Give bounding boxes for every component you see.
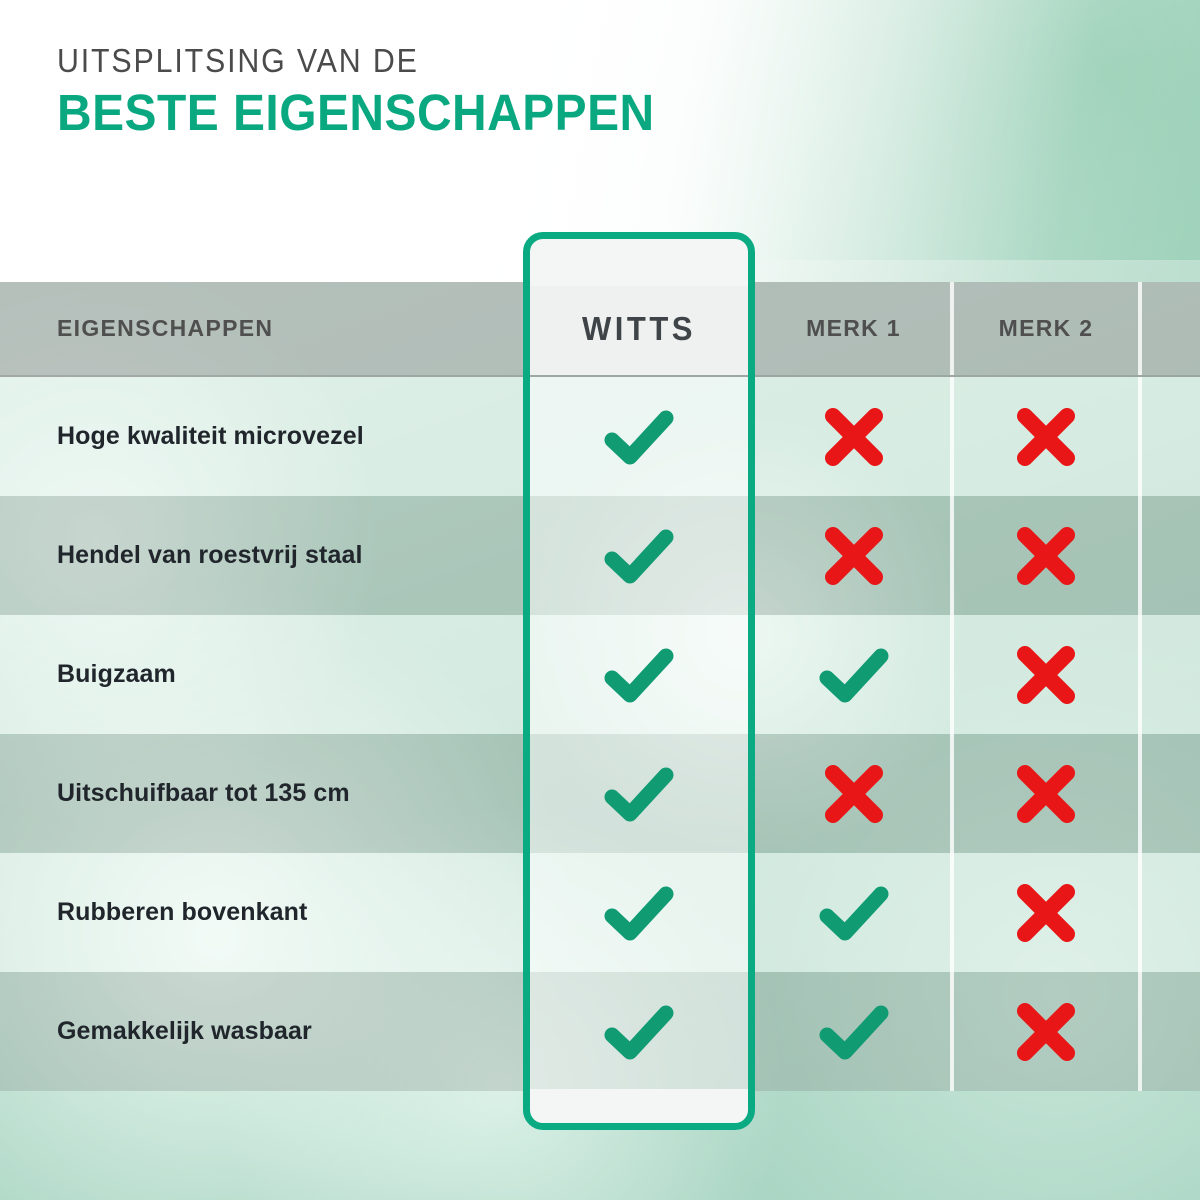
feature-cell: Rubberen bovenkant [0,853,523,972]
table-body: Hoge kwaliteit microvezelHendel van roes… [0,377,1200,1091]
feature-cell: Hoge kwaliteit microvezel [0,377,523,496]
header-cell-overflow [1140,282,1200,375]
header-cell-merk2: MERK 2 [952,282,1140,375]
cross-icon [1009,876,1083,950]
header-cell-witts: WITTS [523,282,755,375]
header-cell-merk1: MERK 1 [755,282,952,375]
overflow-cell [1140,496,1200,615]
cross-icon [1009,400,1083,474]
header-label-eigenschappen: EIGENSCHAPPEN [57,315,273,342]
status-cell-merk2 [952,972,1140,1091]
check-icon [602,519,676,593]
check-icon [817,876,891,950]
status-cell-merk2 [952,615,1140,734]
feature-label: Hoge kwaliteit microvezel [57,422,364,451]
comparison-table: EIGENSCHAPPEN WITTS MERK 1 MERK 2 Hoge k… [0,282,1200,1091]
witts-column-top-cap [527,236,751,286]
status-cell-merk1 [755,496,952,615]
feature-cell: Gemakkelijk wasbaar [0,972,523,1091]
title-main: BESTE EIGENSCHAPPEN [57,85,655,141]
feature-cell: Uitschuifbaar tot 135 cm [0,734,523,853]
status-cell-witts [523,496,755,615]
table-header-row: EIGENSCHAPPEN WITTS MERK 1 MERK 2 [0,282,1200,377]
infographic-canvas: UITSPLITSING VAN DE BESTE EIGENSCHAPPEN … [0,0,1200,1200]
table-row: Hoge kwaliteit microvezel [0,377,1200,496]
overflow-cell [1140,853,1200,972]
check-icon [602,757,676,831]
status-cell-witts [523,615,755,734]
overflow-cell [1140,615,1200,734]
status-cell-merk1 [755,853,952,972]
header-label-witts: WITTS [582,309,696,348]
status-cell-merk2 [952,496,1140,615]
status-cell-merk2 [952,734,1140,853]
page-title: UITSPLITSING VAN DE BESTE EIGENSCHAPPEN [57,44,693,141]
feature-label: Buigzaam [57,660,176,689]
table-row: Buigzaam [0,615,1200,734]
cross-icon [1009,995,1083,1069]
cross-icon [817,400,891,474]
table-row: Uitschuifbaar tot 135 cm [0,734,1200,853]
status-cell-witts [523,853,755,972]
check-icon [602,995,676,1069]
feature-cell: Hendel van roestvrij staal [0,496,523,615]
feature-label: Gemakkelijk wasbaar [57,1017,312,1046]
header-cell-feature: EIGENSCHAPPEN [0,282,523,375]
header-label-merk2: MERK 2 [999,315,1094,342]
feature-label: Hendel van roestvrij staal [57,541,363,570]
cross-icon [1009,638,1083,712]
header-label-merk1: MERK 1 [806,315,901,342]
status-cell-merk2 [952,853,1140,972]
check-icon [602,400,676,474]
feature-label: Uitschuifbaar tot 135 cm [57,779,350,808]
status-cell-merk1 [755,615,952,734]
witts-column-bottom-cap [527,1089,751,1126]
status-cell-witts [523,377,755,496]
cross-icon [817,519,891,593]
check-icon [817,638,891,712]
cross-icon [1009,519,1083,593]
title-kicker: UITSPLITSING VAN DE [57,44,642,79]
overflow-cell [1140,972,1200,1091]
cross-icon [1009,757,1083,831]
check-icon [817,995,891,1069]
status-cell-merk1 [755,734,952,853]
table-row: Gemakkelijk wasbaar [0,972,1200,1091]
check-icon [602,876,676,950]
status-cell-merk2 [952,377,1140,496]
table-row: Rubberen bovenkant [0,853,1200,972]
feature-label: Rubberen bovenkant [57,898,307,927]
cross-icon [817,757,891,831]
overflow-cell [1140,734,1200,853]
table-row: Hendel van roestvrij staal [0,496,1200,615]
status-cell-witts [523,972,755,1091]
check-icon [602,638,676,712]
status-cell-merk1 [755,972,952,1091]
feature-cell: Buigzaam [0,615,523,734]
overflow-cell [1140,377,1200,496]
status-cell-merk1 [755,377,952,496]
status-cell-witts [523,734,755,853]
